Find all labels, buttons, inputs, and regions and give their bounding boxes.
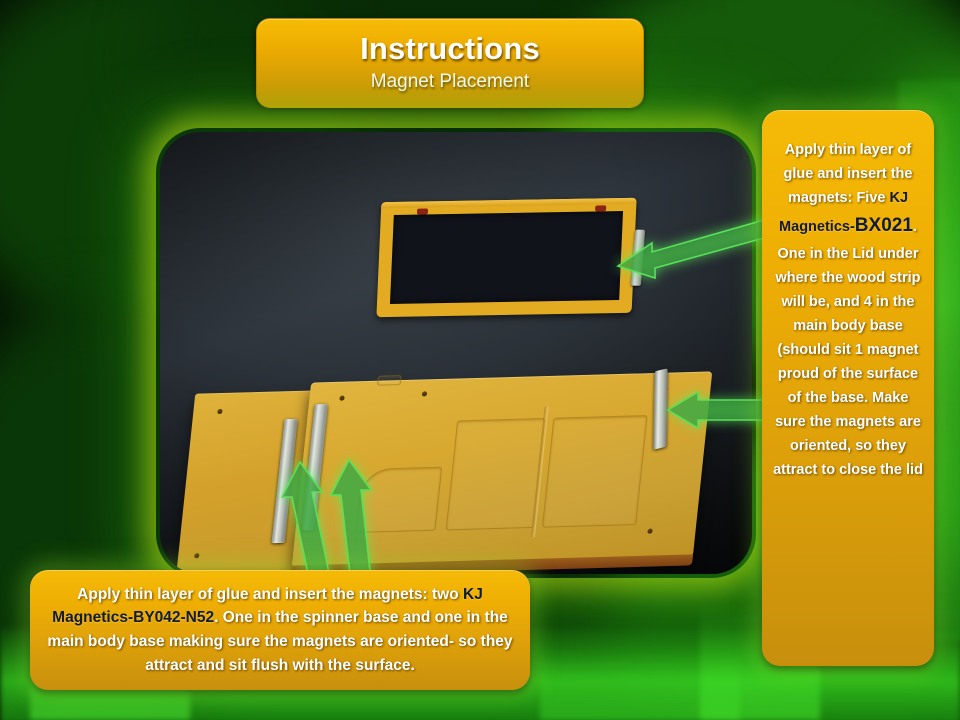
main-body-right-magnet-bar <box>653 368 667 449</box>
callout-left-magnets: Apply thin layer of glue and insert the … <box>30 570 530 690</box>
lid-frame-ring <box>376 198 636 317</box>
lid-frame <box>376 198 636 317</box>
callout-right-magnets: Apply thin layer of glue and insert the … <box>762 110 934 666</box>
lid-nub-left <box>417 208 428 214</box>
page-subtitle: Magnet Placement <box>371 71 529 93</box>
page-title: Instructions <box>360 33 540 66</box>
body-recess-right <box>542 415 648 528</box>
callout-left-body: Apply thin layer of glue and insert the … <box>44 583 516 677</box>
callout-right-text-2: . One in the Lid under where the wood st… <box>773 219 923 478</box>
lid-nub-right <box>595 205 606 211</box>
callout-left-text-1: Apply thin layer of glue and insert the … <box>77 586 463 603</box>
body-recess-center <box>446 418 546 530</box>
title-banner: Instructions Magnet Placement <box>256 18 644 108</box>
callout-right-product-code: BX021 <box>855 215 913 236</box>
product-photo <box>160 132 752 574</box>
main-body-base <box>292 371 713 567</box>
body-notch-top <box>377 375 402 386</box>
